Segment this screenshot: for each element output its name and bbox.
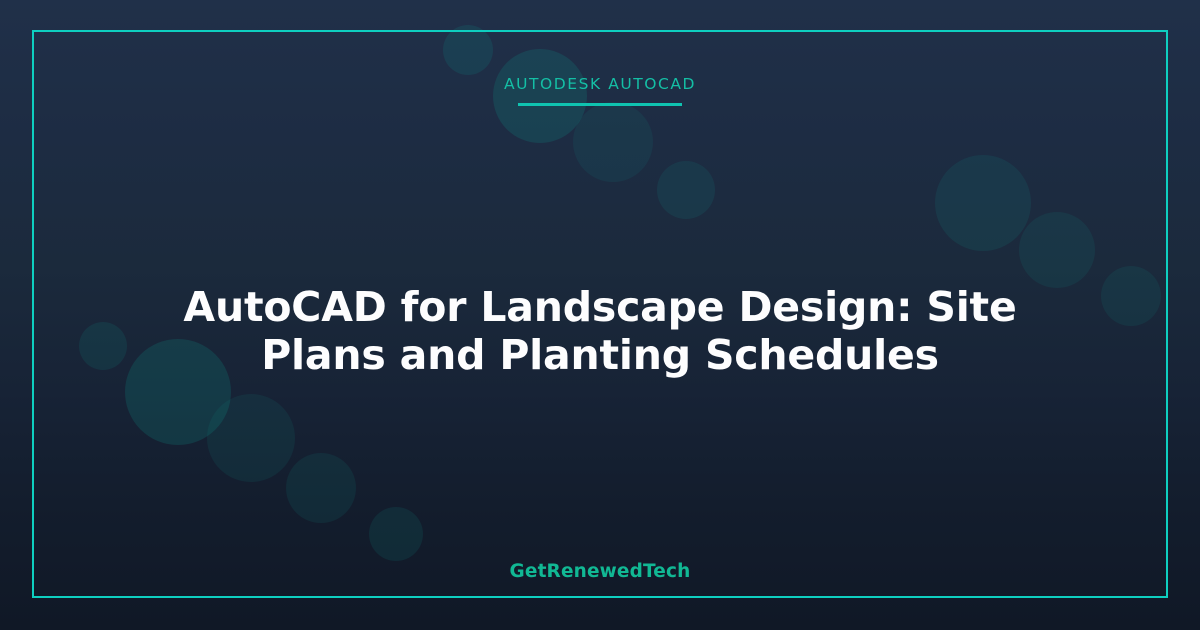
eyebrow-underline-rule: [518, 103, 682, 106]
site-brand-name: GetRenewedTech: [510, 561, 691, 582]
card-content: AUTODESK AUTOCAD AutoCAD for Landscape D…: [0, 0, 1200, 630]
category-label: AUTODESK AUTOCAD: [504, 74, 696, 94]
eyebrow-block: AUTODESK AUTOCAD: [0, 74, 1200, 106]
title-block: AutoCAD for Landscape Design: Site Plans…: [0, 283, 1200, 379]
page-title: AutoCAD for Landscape Design: Site Plans…: [120, 283, 1080, 379]
og-card-canvas: AUTODESK AUTOCAD AutoCAD for Landscape D…: [0, 0, 1200, 630]
footer-block: GetRenewedTech: [0, 561, 1200, 582]
